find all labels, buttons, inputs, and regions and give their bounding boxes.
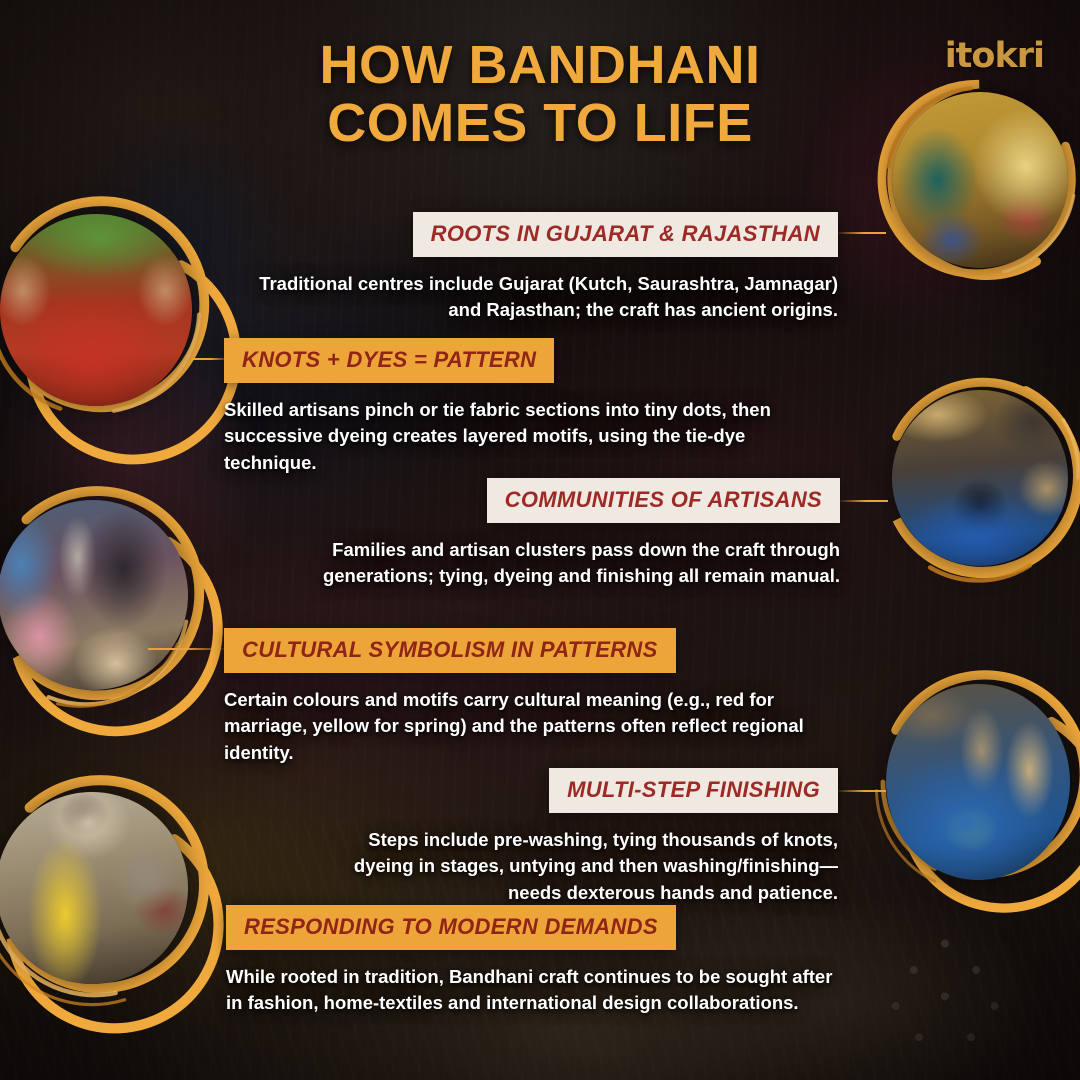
connector-line-5 <box>838 790 886 792</box>
photo-artisan-dyeing-tub <box>892 390 1068 566</box>
section-5-heading: MULTI-STEP FINISHING <box>549 768 838 813</box>
section-6-body: While rooted in tradition, Bandhani craf… <box>226 964 836 1017</box>
connector-line-3 <box>840 500 888 502</box>
section-6-heading: RESPONDING TO MODERN DEMANDS <box>226 905 676 950</box>
photo-women-untying-cloth <box>0 500 188 690</box>
connector-line-4 <box>148 648 226 650</box>
page-title-line-2: COMES TO LIFE <box>0 94 1080 152</box>
section-4: CULTURAL SYMBOLISM IN PATTERNS Certain c… <box>224 628 836 766</box>
section-1: ROOTS IN GUJARAT & RAJASTHAN Traditional… <box>232 212 838 324</box>
infographic-poster: itokri HOW BANDHANI COMES TO LIFE ROOTS … <box>0 0 1080 1080</box>
section-1-heading: ROOTS IN GUJARAT & RAJASTHAN <box>413 212 838 257</box>
itokri-logo[interactable]: itokri <box>945 36 1044 76</box>
section-3-heading: COMMUNITIES OF ARTISANS <box>487 478 840 523</box>
photo-blue-dye-vat <box>886 684 1070 880</box>
section-5-body: Steps include pre-washing, tying thousan… <box>320 827 838 906</box>
section-3-body: Families and artisan clusters pass down … <box>240 537 840 590</box>
section-3: COMMUNITIES OF ARTISANS Families and art… <box>240 478 840 590</box>
page-title: HOW BANDHANI COMES TO LIFE <box>0 36 1080 153</box>
section-2-heading: KNOTS + DYES = PATTERN <box>224 338 554 383</box>
section-5: MULTI-STEP FINISHING Steps include pre-w… <box>320 768 838 906</box>
section-2: KNOTS + DYES = PATTERN Skilled artisans … <box>224 338 836 476</box>
connector-line-1 <box>838 232 886 234</box>
section-2-body: Skilled artisans pinch or tie fabric sec… <box>224 397 836 476</box>
section-4-body: Certain colours and motifs carry cultura… <box>224 687 836 766</box>
photo-artisan-yellow-cloth <box>0 792 188 984</box>
page-title-line-1: HOW BANDHANI <box>320 35 761 95</box>
section-6: RESPONDING TO MODERN DEMANDS While roote… <box>226 905 836 1017</box>
section-1-body: Traditional centres include Gujarat (Kut… <box>232 271 838 324</box>
section-4-heading: CULTURAL SYMBOLISM IN PATTERNS <box>224 628 676 673</box>
photo-hands-tying-red-cloth <box>0 214 192 406</box>
